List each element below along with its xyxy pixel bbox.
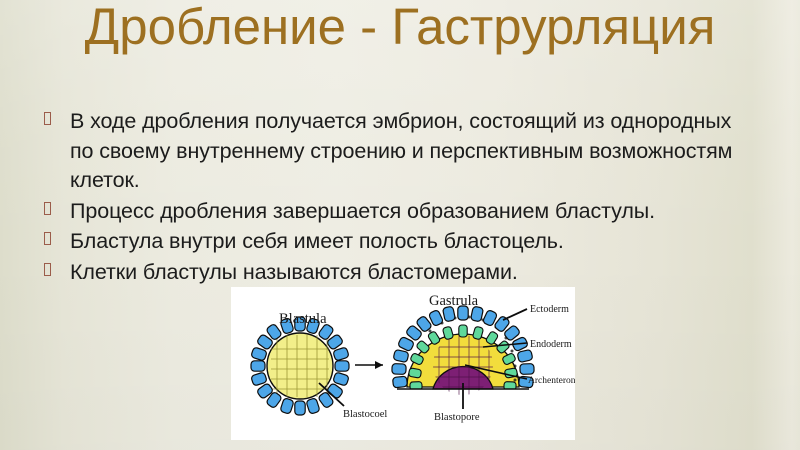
blastula-gastrula-svg: Blastula Blastocoel [231,287,575,440]
list-item: Бластула внутри себя имеет полость бласт… [44,227,756,257]
gastrula-title: Gastrula [429,293,479,309]
list-item: В ходе дробления получается эмбрион, сос… [44,107,756,196]
blastopore-label: Blastopore [434,412,480,423]
embryology-diagram-image: Blastula Blastocoel [231,287,575,440]
blastocoel-label: Blastocoel [343,409,387,420]
bullet-marker-icon [44,258,70,279]
list-item-text: Бластула внутри себя имеет полость бласт… [70,227,756,257]
ectoderm-label: Ectoderm [530,304,569,315]
bullet-marker-icon [44,227,70,248]
slide-canvas: Дробление - Гаструрляция В ходе дроблени… [0,0,800,450]
list-item: Процесс дробления завершается образовани… [44,197,756,227]
blastula-title: Blastula [279,311,327,327]
page-title: Дробление - Гаструрляция [0,0,800,56]
bullet-marker-icon [44,107,70,128]
bullet-list: В ходе дробления получается эмбрион, сос… [44,107,756,288]
bullet-marker-icon [44,197,70,218]
list-item-text: В ходе дробления получается эмбрион, сос… [70,107,756,196]
list-item-text: Клетки бластулы называются бластомерами. [70,258,756,288]
list-item-text: Процесс дробления завершается образовани… [70,197,756,227]
list-item: Клетки бластулы называются бластомерами. [44,258,756,288]
endoderm-label: Endoderm [530,339,572,350]
archenteron-label: Archenteron [528,376,575,386]
